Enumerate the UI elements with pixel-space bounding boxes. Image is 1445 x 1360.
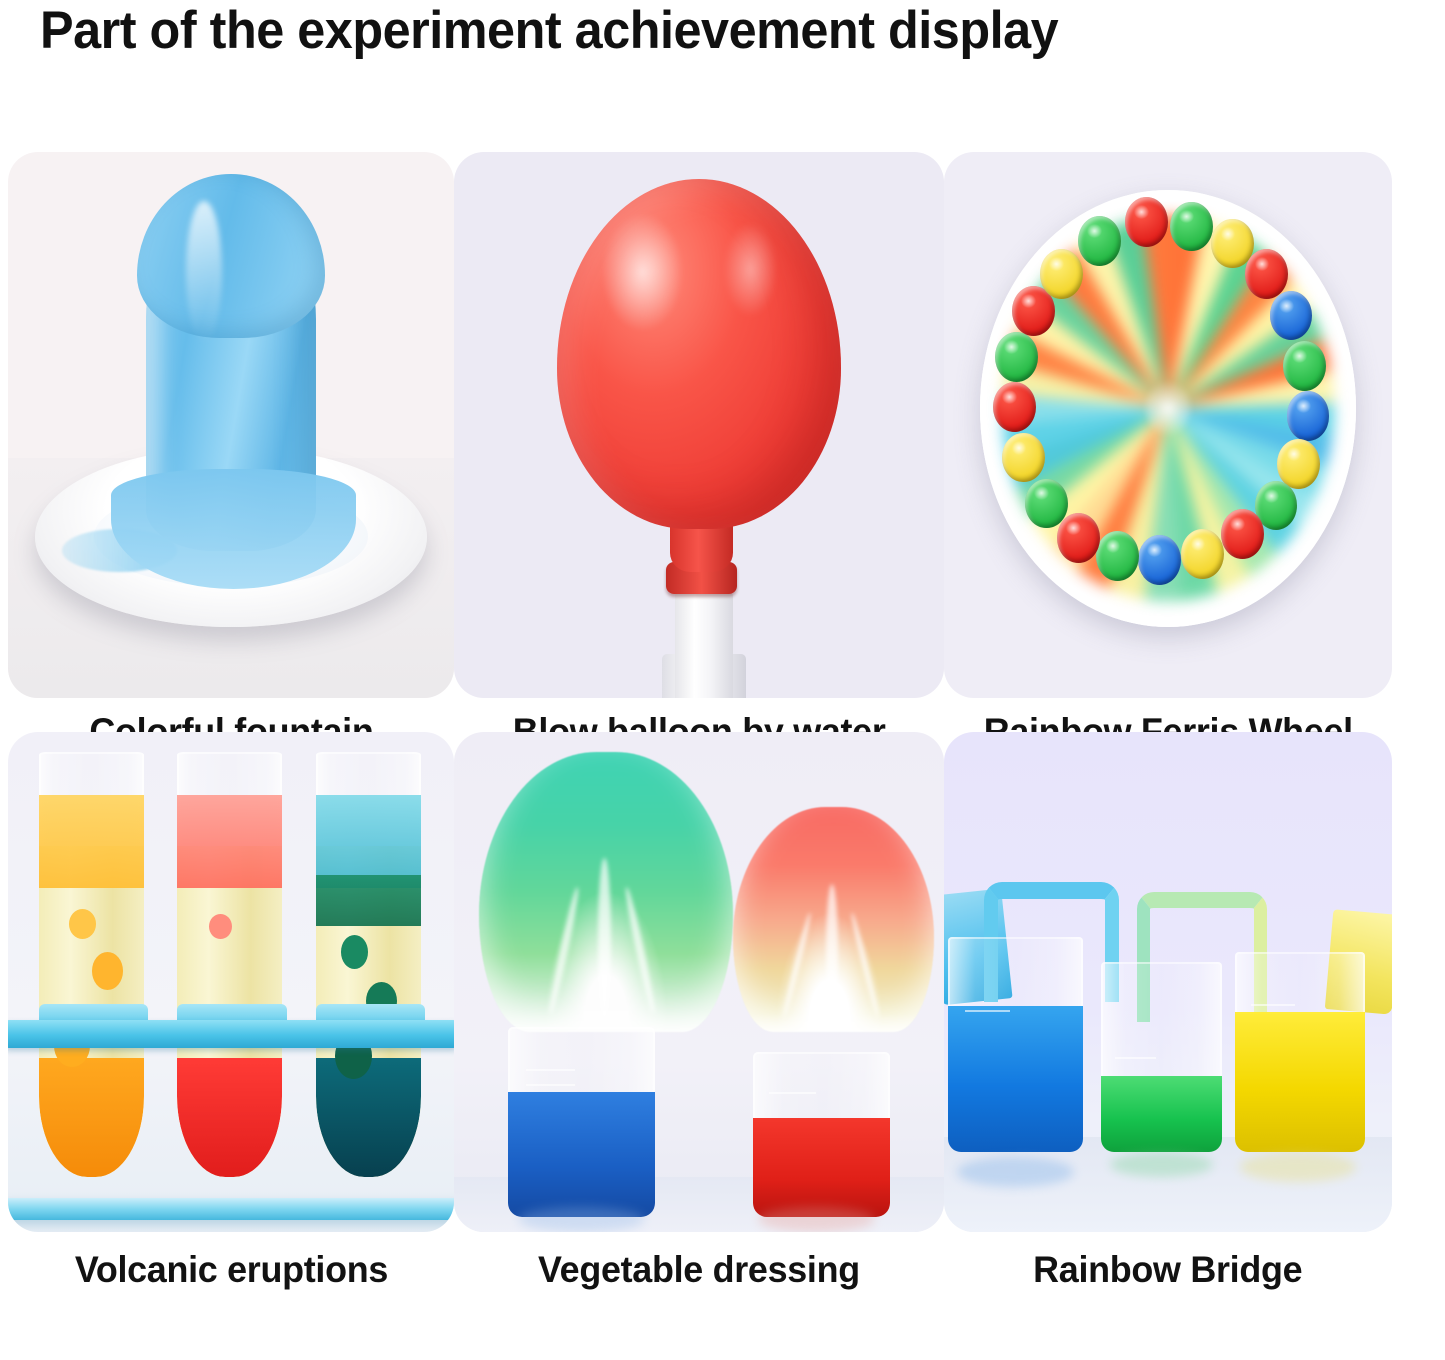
experiment-card-rainbow-bridge: [944, 732, 1392, 1232]
caption-vegetable-dressing: Vegetable dressing: [454, 1232, 944, 1308]
caption-row-2-cell-3: Rainbow Bridge: [944, 1232, 1392, 1308]
leaf-rib: [598, 858, 611, 1020]
beaker: [1235, 952, 1365, 1152]
candy-piece: [1040, 249, 1083, 299]
experiment-card-colorful-fountain: [8, 152, 454, 698]
beaker-reflection: [957, 1157, 1073, 1187]
rack-support-bar: [8, 1020, 454, 1048]
leaf-rib: [849, 911, 881, 1017]
test-tube: [316, 752, 421, 1177]
candy-piece: [1025, 479, 1068, 529]
blue-liquid: [948, 1006, 1082, 1152]
balloon-highlight: [601, 212, 684, 332]
cup-reflection: [518, 1207, 645, 1232]
test-tube: [39, 752, 144, 1177]
candy-piece: [1287, 391, 1330, 441]
caption-text: Rainbow Bridge: [1033, 1249, 1302, 1291]
foam-highlight: [186, 201, 222, 343]
beaker-reflection: [1240, 1152, 1356, 1182]
caption-text: Vegetable dressing: [538, 1249, 860, 1291]
petri-dish: [980, 190, 1356, 627]
rack-base: [8, 1198, 454, 1220]
graduation-mark: [1115, 1057, 1156, 1059]
green-liquid: [1101, 1076, 1222, 1152]
rays-center: [1145, 382, 1190, 434]
graduation-mark: [526, 1084, 576, 1086]
candy-piece: [1245, 249, 1288, 299]
caption-row-2-cell-1: Volcanic eruptions: [8, 1232, 454, 1308]
measuring-cup: [753, 1052, 890, 1217]
yellow-liquid: [1235, 1012, 1365, 1152]
candy-piece: [993, 382, 1036, 432]
experiment-card-rainbow-ferris-wheel: [944, 152, 1392, 698]
photo-volcanic-eruptions: [8, 732, 454, 1232]
leaf-rib: [826, 884, 838, 1024]
bubble: [92, 952, 123, 990]
photo-rainbow-bridge: [944, 732, 1392, 1232]
test-tube: [177, 752, 282, 1177]
blue-liquid: [508, 1092, 655, 1217]
caption-blow-balloon-by-water: Blow balloon by water: [454, 698, 944, 732]
cabbage-leaf-teal: [479, 752, 734, 1032]
caption-colorful-fountain: Colorful fountain: [8, 698, 454, 732]
measuring-cup: [508, 1027, 655, 1217]
candy-piece: [1221, 509, 1264, 559]
photo-blow-balloon-by-water: [454, 152, 944, 698]
beaker: [948, 937, 1082, 1152]
froth-layer: [39, 795, 144, 889]
froth-layer: [177, 795, 282, 889]
leaf-rib: [781, 911, 813, 1017]
candy-piece: [1078, 216, 1121, 266]
photo-colorful-fountain: [8, 152, 454, 698]
leaf-rib: [547, 887, 581, 1015]
graduation-mark: [769, 1092, 816, 1094]
graduation-mark: [526, 1069, 576, 1071]
bottle-neck: [675, 592, 734, 698]
candy-piece: [1181, 529, 1224, 579]
candy-piece: [995, 332, 1038, 382]
photo-vegetable-dressing: [454, 732, 944, 1232]
graduation-mark: [965, 1010, 1011, 1012]
balloon-highlight-secondary: [724, 223, 778, 316]
bubble: [209, 914, 232, 940]
caption-rainbow-bridge: Rainbow Bridge: [944, 1232, 1392, 1308]
leaf-rib: [623, 887, 657, 1015]
caption-row-1-cell-1: Colorful fountain: [8, 698, 454, 732]
caption-volcanic-eruptions: Volcanic eruptions: [8, 1232, 454, 1308]
candy-piece: [1125, 197, 1168, 247]
candy-piece: [1096, 531, 1139, 581]
froth-layer: [316, 795, 421, 889]
bubble: [341, 935, 368, 969]
cabbage-leaf-red: [733, 807, 934, 1032]
product-infographic: Part of the experiment achievement displ…: [0, 0, 1445, 1360]
candy-piece: [1138, 535, 1181, 585]
bubble: [69, 909, 96, 939]
beaker: [1101, 962, 1222, 1152]
candy-piece: [1283, 341, 1326, 391]
beaker-reflection: [1110, 1152, 1213, 1177]
candy-piece: [1057, 513, 1100, 563]
caption-row-1-cell-2: Blow balloon by water: [454, 698, 944, 732]
cup-reflection: [758, 1207, 876, 1232]
caption-rainbow-ferris-wheel: Rainbow Ferris Wheel: [944, 698, 1392, 732]
experiment-card-blow-balloon-by-water: [454, 152, 944, 698]
candy-piece: [1170, 202, 1213, 252]
experiment-grid: Colorful fountain Blow balloon by water …: [8, 152, 1438, 1348]
red-liquid: [753, 1118, 890, 1217]
experiment-card-volcanic-eruptions: [8, 732, 454, 1232]
page-title: Part of the experiment achievement displ…: [40, 0, 1351, 62]
graduation-mark: [1251, 1004, 1295, 1006]
candy-piece: [1277, 439, 1320, 489]
experiment-card-vegetable-dressing: [454, 732, 944, 1232]
caption-text: Volcanic eruptions: [74, 1249, 387, 1291]
caption-row-2-cell-2: Vegetable dressing: [454, 1232, 944, 1308]
photo-rainbow-ferris-wheel: [944, 152, 1392, 698]
blob-band: [316, 875, 421, 926]
caption-row-1-cell-3: Rainbow Ferris Wheel: [944, 698, 1392, 732]
